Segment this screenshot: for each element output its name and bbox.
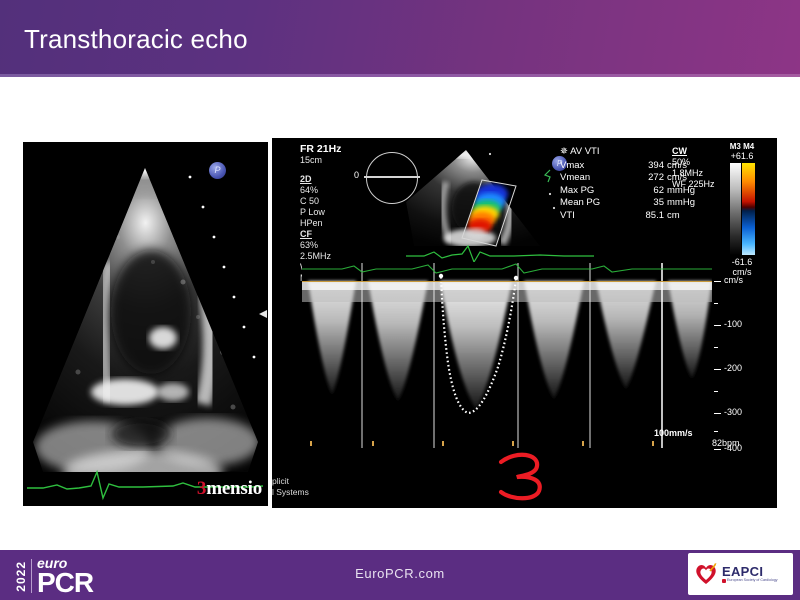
measurement-label: VTI xyxy=(560,210,616,223)
heart-rate-label: 82bpm xyxy=(712,438,740,448)
measurement-label: Vmax xyxy=(560,160,616,173)
measurement-title-label: AV VTI xyxy=(570,146,599,157)
velocity-tick-label: -100 xyxy=(724,319,742,329)
cw-settings: CW 50% 1.8MHz WF 225Hz xyxy=(672,146,715,190)
esc-dot-icon xyxy=(722,579,726,583)
colorbar-max-value: +61.6 xyxy=(712,151,772,161)
apical-four-chamber-sector xyxy=(23,142,268,506)
footer-website[interactable]: EuroPCR.com xyxy=(0,566,800,581)
colorbar-tag: M3 M4 xyxy=(712,142,772,151)
measurement-row: Mean PG 35 mmHg xyxy=(560,197,697,210)
velocity-axis: cm/s -100 -200 -300 -400 xyxy=(714,263,776,453)
measurement-value: 62 xyxy=(616,185,664,198)
left-echo-image: P 3mensio xyxy=(23,142,268,506)
measurement-label: Vmean xyxy=(560,172,616,185)
cw-label: CW xyxy=(672,146,715,157)
header-divider xyxy=(0,74,800,77)
measurement-row: VTI 85.1 cm xyxy=(560,210,697,223)
watermark-numeral: 3 xyxy=(197,478,206,499)
spectral-doppler-trace: 100mm/s xyxy=(302,263,712,448)
vendor-text: plicit l Systems xyxy=(272,476,309,498)
vendor-line-2: l Systems xyxy=(272,487,309,498)
orientation-circle-icon xyxy=(366,152,418,204)
eapci-name: EAPCI xyxy=(722,565,778,578)
velocity-unit-label: cm/s xyxy=(724,275,743,285)
mode-cf-label: CF xyxy=(300,229,312,239)
mode-2d-label: 2D xyxy=(300,174,312,184)
cw-gain-value: 50% xyxy=(672,157,715,168)
sweep-speed-label: 100mm/s xyxy=(654,428,693,438)
orientation-bar-icon xyxy=(364,176,420,178)
measurement-bullet-icon: ✵ xyxy=(560,146,568,157)
velocity-tick-label: -300 xyxy=(724,407,742,417)
cw-frequency-value: 1.8MHz xyxy=(672,168,715,179)
measurement-value: 35 xyxy=(616,197,664,210)
colorbar-gradients xyxy=(712,163,772,255)
vendor-line-1: plicit xyxy=(272,476,309,487)
measurement-value: 394 xyxy=(616,160,664,173)
red-annotation-mark xyxy=(487,448,557,504)
measurement-label: Max PG xyxy=(560,185,616,198)
probe-orientation-icon: P xyxy=(209,162,226,179)
heart-icon xyxy=(693,561,719,587)
measurement-label: Mean PG xyxy=(560,197,616,210)
measurement-unit: cm xyxy=(664,210,697,223)
watermark-word: mensio xyxy=(206,478,262,499)
color-scale-bar: M3 M4 +61.6 -61.6 cm/s xyxy=(712,142,772,277)
page-title: Transthoracic echo xyxy=(24,24,248,55)
eapci-subtitle: European Society of Cardiology xyxy=(727,578,778,583)
cw-wall-filter-value: WF 225Hz xyxy=(672,179,715,190)
orientation-zero-label: 0 xyxy=(354,170,359,180)
right-echo-panel: FR 21Hz 15cm 2D 64% C 50 P Low HPen CF 6… xyxy=(272,138,777,508)
measurement-value: 85.1 xyxy=(616,210,664,223)
eapci-logo: EAPCI European Society of Cardiology xyxy=(688,553,793,595)
velocity-tick-label: -200 xyxy=(724,363,742,373)
eapci-subtitle-row: European Society of Cardiology xyxy=(722,578,778,583)
measurement-value: 272 xyxy=(616,172,664,185)
measurement-unit: mmHg xyxy=(664,197,697,210)
grayscale-bar xyxy=(730,163,741,255)
velocity-color-bar xyxy=(742,163,755,255)
vendor-watermark: 3mensio xyxy=(197,478,262,500)
zero-baseline xyxy=(302,281,712,282)
